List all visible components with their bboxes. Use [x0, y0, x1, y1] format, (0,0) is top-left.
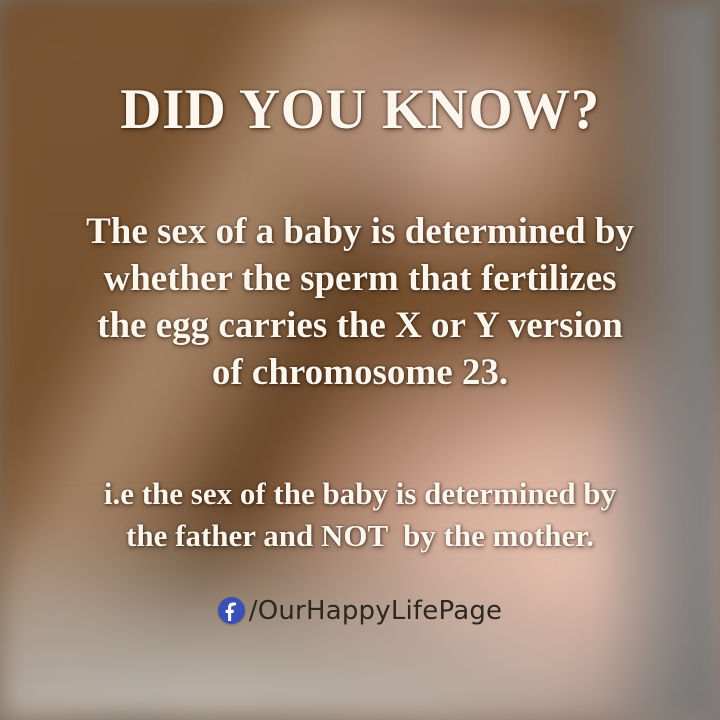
note-line: i.e the sex of the baby is determined by [0, 473, 720, 515]
facebook-handle[interactable]: /OurHappyLifePage [249, 598, 502, 624]
body-line: The sex of a baby is determined by [0, 208, 720, 255]
body-paragraph: The sex of a baby is determined by wheth… [0, 208, 720, 396]
facebook-icon[interactable] [218, 597, 245, 624]
infographic-canvas: DID YOU KNOW? The sex of a baby is deter… [0, 0, 720, 720]
body-line: whether the sperm that fertilizes [0, 255, 720, 302]
body-line: the egg carries the X or Y version [0, 302, 720, 349]
headline: DID YOU KNOW? [0, 80, 720, 140]
note-paragraph: i.e the sex of the baby is determined by… [0, 473, 720, 557]
body-line: of chromosome 23. [0, 349, 720, 396]
text-overlay: DID YOU KNOW? The sex of a baby is deter… [0, 0, 720, 720]
note-line: the father and NOT by the mother. [0, 515, 720, 557]
facebook-attribution[interactable]: /OurHappyLifePage [0, 597, 720, 624]
